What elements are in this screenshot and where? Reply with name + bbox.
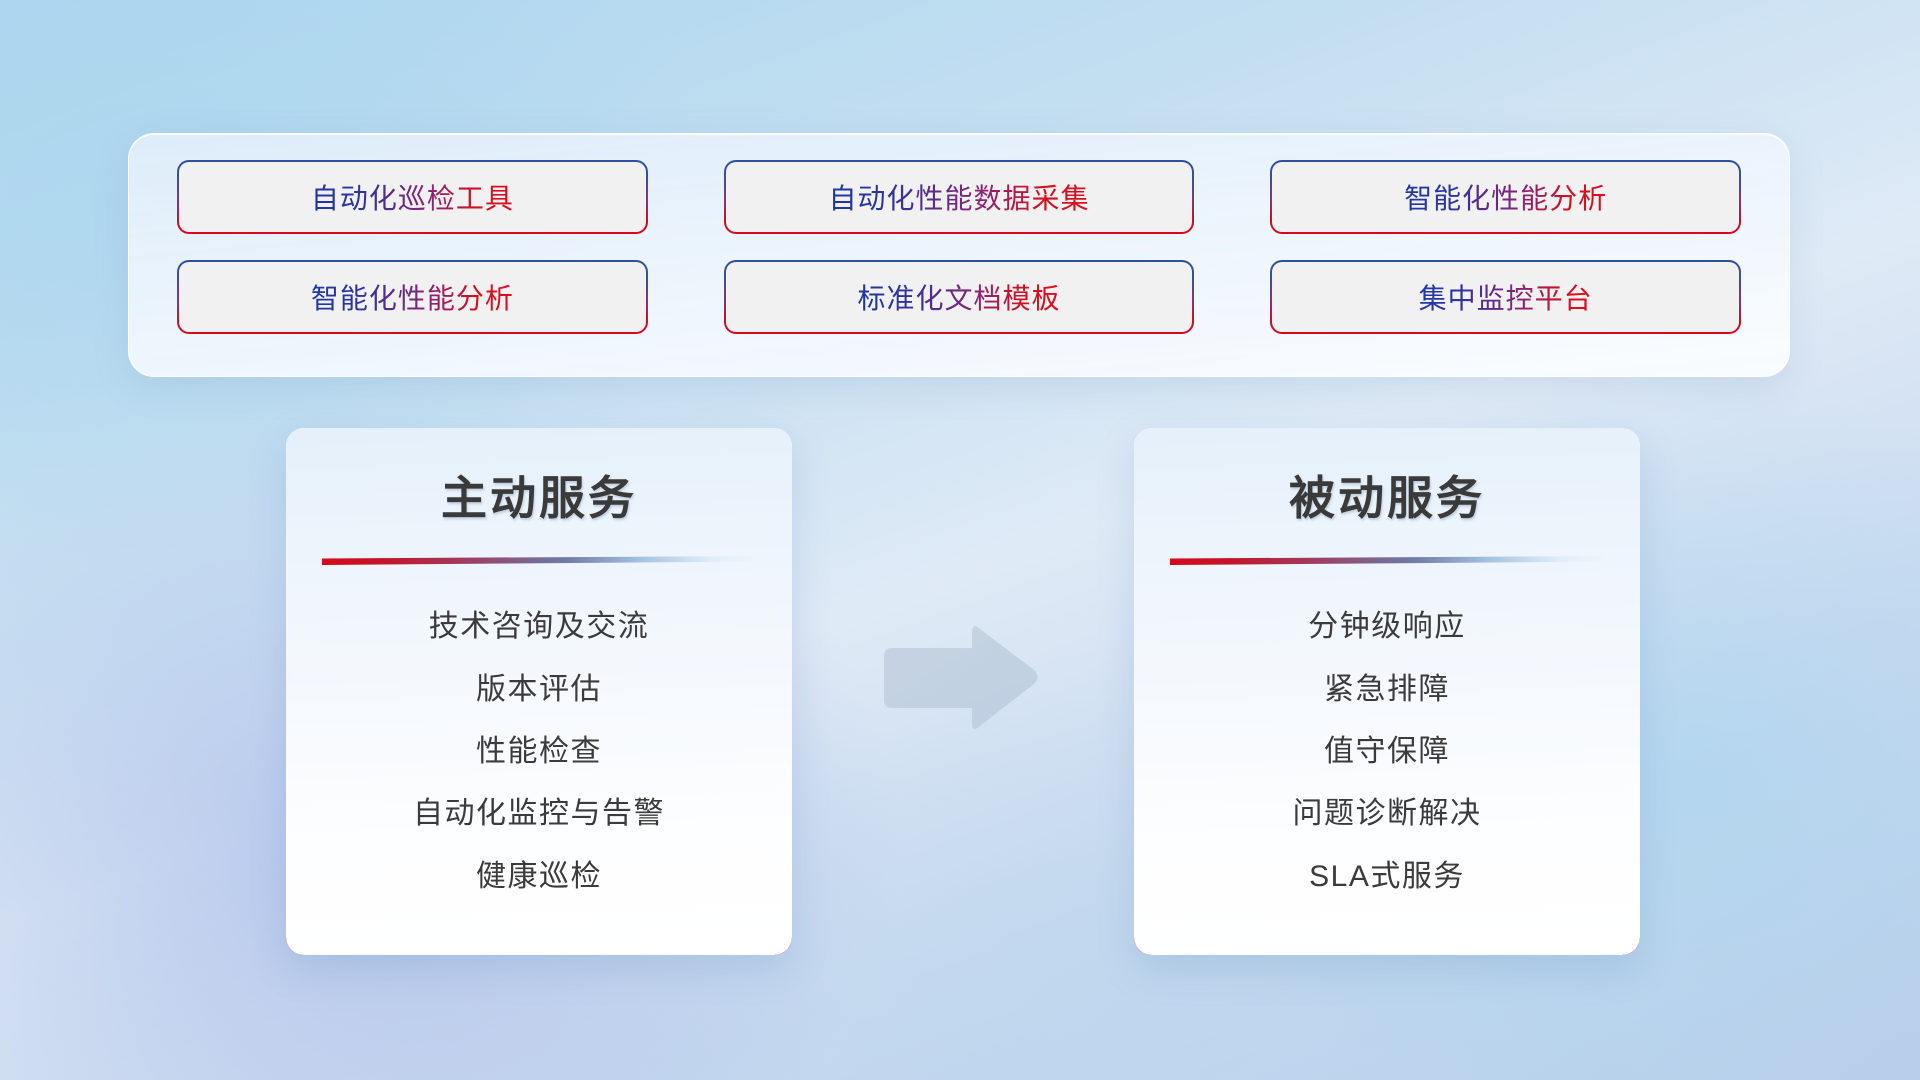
capability-chip-label: 标准化文档模板 — [857, 277, 1060, 317]
capability-chip-label: 自动化性能数据采集 — [828, 177, 1089, 217]
capability-chip-5[interactable]: 标准化文档模板 — [726, 262, 1193, 332]
capability-chip-1[interactable]: 自动化巡检工具 — [179, 162, 646, 232]
service-card-active-inner: 主动服务 技术咨询及交流 版本评估 性能检查 自动化监控与告警 健康巡检 — [286, 428, 792, 955]
capability-panel: 自动化巡检工具 自动化性能数据采集 智能化性能分析 智能化性能分析 标准化文档模… — [128, 133, 1790, 377]
list-item: 自动化监控与告警 — [320, 788, 758, 832]
capability-grid: 自动化巡检工具 自动化性能数据采集 智能化性能分析 智能化性能分析 标准化文档模… — [179, 162, 1739, 348]
service-card-active[interactable]: 主动服务 技术咨询及交流 版本评估 性能检查 自动化监控与告警 健康巡检 — [286, 428, 792, 955]
capability-chip-label: 智能化性能分析 — [1404, 177, 1607, 217]
service-card-active-list: 技术咨询及交流 版本评估 性能检查 自动化监控与告警 健康巡检 — [320, 565, 758, 925]
capability-chip-label: 自动化巡检工具 — [311, 177, 514, 217]
arrow-right-icon — [876, 620, 1042, 736]
list-item: 性能检查 — [320, 726, 758, 770]
capability-chip-2[interactable]: 自动化性能数据采集 — [726, 162, 1193, 232]
list-item: 值守保障 — [1168, 726, 1606, 770]
list-item: 健康巡检 — [320, 851, 758, 895]
title-divider — [1170, 556, 1604, 565]
service-card-passive[interactable]: 被动服务 分钟级响应 紧急排障 值守保障 问题诊断解决 SLA式服务 — [1134, 428, 1640, 955]
capability-chip-6[interactable]: 集中监控平台 — [1272, 262, 1739, 332]
list-item: 紧急排障 — [1168, 664, 1606, 708]
capability-chip-4[interactable]: 智能化性能分析 — [179, 262, 646, 332]
capability-chip-3[interactable]: 智能化性能分析 — [1272, 162, 1739, 232]
list-item: 分钟级响应 — [1168, 601, 1606, 645]
title-divider — [322, 556, 756, 565]
list-item: 问题诊断解决 — [1168, 788, 1606, 832]
capability-chip-label: 智能化性能分析 — [311, 277, 514, 317]
list-item: 版本评估 — [320, 664, 758, 708]
service-card-passive-title: 被动服务 — [1168, 462, 1606, 528]
service-card-active-title: 主动服务 — [320, 462, 758, 528]
service-card-passive-list: 分钟级响应 紧急排障 值守保障 问题诊断解决 SLA式服务 — [1168, 565, 1606, 925]
capability-chip-label: 集中监控平台 — [1419, 277, 1593, 317]
slide-canvas: 自动化巡检工具 自动化性能数据采集 智能化性能分析 智能化性能分析 标准化文档模… — [0, 0, 1920, 1080]
service-card-passive-inner: 被动服务 分钟级响应 紧急排障 值守保障 问题诊断解决 SLA式服务 — [1134, 428, 1640, 955]
list-item: 技术咨询及交流 — [320, 601, 758, 645]
list-item: SLA式服务 — [1168, 851, 1606, 895]
